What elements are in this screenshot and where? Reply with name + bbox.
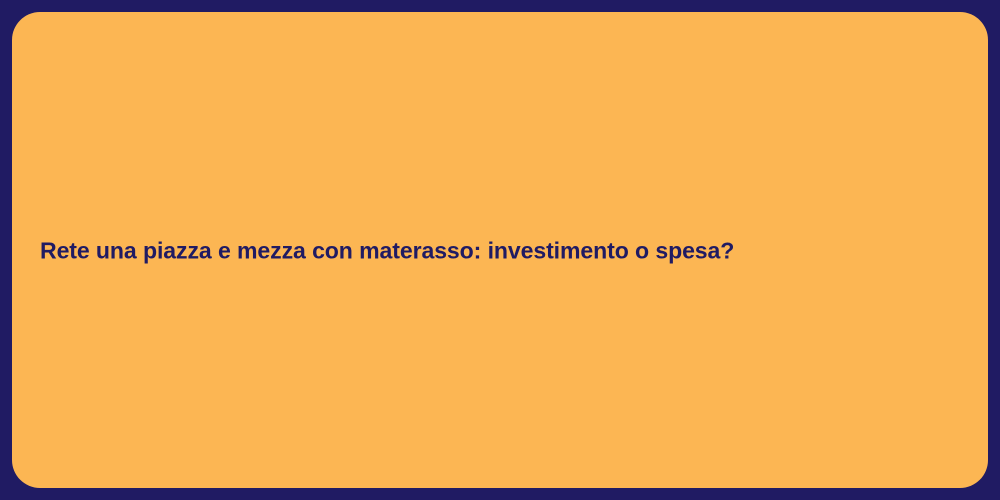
banner-root: Rete una piazza e mezza con materasso: i… [0,0,1000,500]
card-panel: Rete una piazza e mezza con materasso: i… [12,12,988,488]
headline-title: Rete una piazza e mezza con materasso: i… [40,237,974,264]
headline-container: Rete una piazza e mezza con materasso: i… [40,237,974,264]
